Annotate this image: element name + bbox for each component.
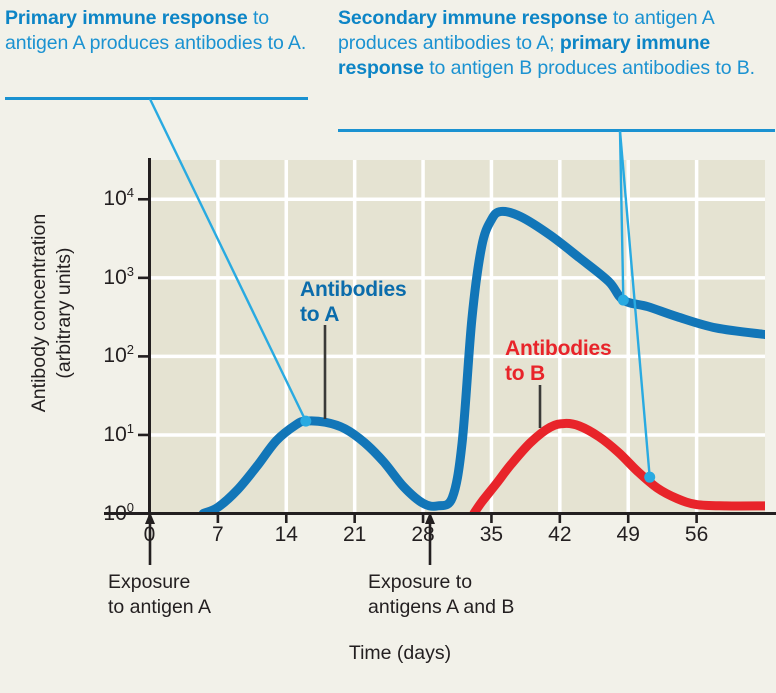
y-axis-title: Antibody concentration (arbitrary units) xyxy=(27,198,77,428)
series-label-b-line2: to B xyxy=(505,361,612,386)
x-axis-title: Time (days) xyxy=(300,641,500,666)
x-tick-label: 56 xyxy=(675,523,719,546)
series-label-a-line2: to A xyxy=(300,302,407,327)
x-tick-label: 14 xyxy=(264,523,308,546)
y-tick-exponent: 4 xyxy=(127,185,134,200)
series-label-antibodies-to-a: Antibodies to A xyxy=(300,277,407,327)
y-tick-label: 104 xyxy=(72,188,134,209)
y-tick-exponent: 1 xyxy=(127,421,134,436)
y-tick-label: 101 xyxy=(72,424,134,445)
x-tick-label: 35 xyxy=(469,523,513,546)
callout-marker-dot xyxy=(644,472,655,483)
y-tick-label: 100 xyxy=(72,503,134,524)
y-tick-mantissa: 10 xyxy=(103,266,126,289)
series-label-a-line1: Antibodies xyxy=(300,277,407,302)
y-axis-title-line1: Antibody concentration xyxy=(27,198,52,428)
y-tick-exponent: 3 xyxy=(127,264,134,279)
exposure-ab-line2: antigens A and B xyxy=(368,595,578,620)
y-axis-title-line2: (arbitrary units) xyxy=(52,198,77,428)
y-tick-label: 102 xyxy=(72,345,134,366)
exposure-a-note: Exposure to antigen A xyxy=(108,570,258,620)
series-label-antibodies-to-b: Antibodies to B xyxy=(505,336,612,386)
y-tick-label: 103 xyxy=(72,267,134,288)
antibody-response-figure: Primary immune response to antigen A pro… xyxy=(0,0,776,693)
x-tick-label: 0 xyxy=(128,523,172,546)
x-tick-label: 49 xyxy=(606,523,650,546)
exposure-a-line2: to antigen A xyxy=(108,595,258,620)
y-tick-mantissa: 10 xyxy=(103,423,126,446)
y-tick-mantissa: 10 xyxy=(103,344,126,367)
y-tick-mantissa: 10 xyxy=(103,187,126,210)
exposure-ab-note: Exposure to antigens A and B xyxy=(368,570,578,620)
series-label-b-line1: Antibodies xyxy=(505,336,612,361)
y-tick-mantissa: 10 xyxy=(103,502,126,525)
callout-marker-dot xyxy=(300,416,311,427)
y-tick-exponent: 2 xyxy=(127,342,134,357)
x-tick-label: 28 xyxy=(401,523,445,546)
exposure-ab-line1: Exposure to xyxy=(368,570,578,595)
x-tick-label: 7 xyxy=(196,523,240,546)
exposure-a-line1: Exposure xyxy=(108,570,258,595)
callout-marker-dot xyxy=(618,295,629,306)
x-tick-label: 21 xyxy=(333,523,377,546)
y-tick-exponent: 0 xyxy=(127,500,134,515)
x-tick-label: 42 xyxy=(538,523,582,546)
